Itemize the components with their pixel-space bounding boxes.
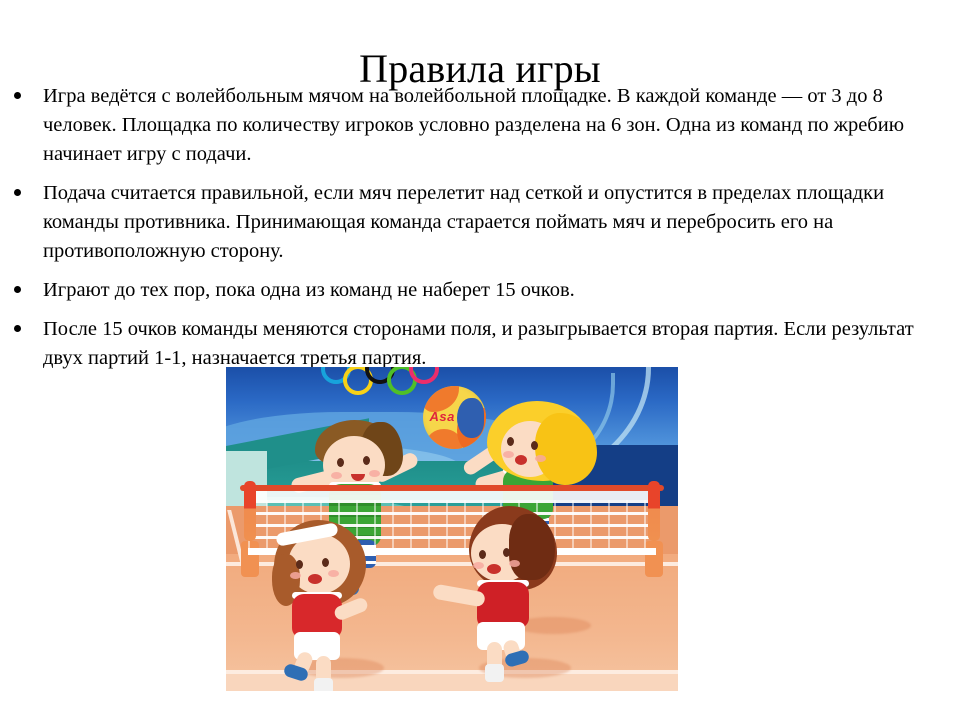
- player-girl-red-top: [262, 510, 412, 690]
- player-cheek: [290, 572, 301, 579]
- ball-panel-blue: [457, 398, 485, 438]
- player-hair-side: [509, 514, 555, 580]
- player-eye: [296, 560, 303, 569]
- volleyball-icon: Asa: [423, 386, 486, 449]
- player-eye: [322, 558, 329, 567]
- bullet-dot-icon: [14, 92, 21, 99]
- list-item: Игра ведётся с волейбольным мячом на вол…: [8, 82, 944, 169]
- player-cheek: [535, 455, 546, 462]
- player-hair-side: [535, 413, 597, 485]
- net-top-cable: [240, 485, 665, 491]
- volleyball-illustration: Asa: [226, 367, 678, 691]
- list-item-text: Играют до тех пор, пока одна из команд н…: [43, 276, 944, 305]
- bullet-dot-icon: [14, 189, 21, 196]
- player-sock: [485, 664, 504, 682]
- player-shirt: [477, 582, 529, 628]
- ball-brand-label: Asa: [430, 409, 455, 424]
- player-eye: [531, 441, 538, 450]
- list-item-text: После 15 очков команды меняются сторонам…: [43, 315, 944, 373]
- player-mouth: [308, 574, 322, 584]
- player-cheek: [503, 451, 514, 458]
- list-item: Подача считается правильной, если мяч пе…: [8, 179, 944, 266]
- ball-panel-orange: [423, 386, 460, 411]
- illustration-canvas: Asa: [226, 367, 678, 691]
- list-item: Играют до тех пор, пока одна из команд н…: [8, 276, 944, 305]
- bullet-dot-icon: [14, 286, 21, 293]
- list-item: После 15 очков команды меняются сторонам…: [8, 315, 944, 373]
- player-eye: [507, 437, 514, 446]
- list-item-text: Игра ведётся с волейбольным мячом на вол…: [43, 82, 944, 169]
- player-sock: [314, 678, 333, 691]
- slide: Правила игры Игра ведётся с волейбольным…: [0, 0, 960, 720]
- net-post-left: [244, 481, 256, 542]
- rules-list: Игра ведётся с волейбольным мячом на вол…: [8, 82, 944, 373]
- player-boy-red-shirt: [447, 500, 597, 685]
- list-item-text: Подача считается правильной, если мяч пе…: [43, 179, 944, 266]
- player-cheek: [328, 570, 339, 577]
- player-mouth: [515, 455, 527, 465]
- net-post-right: [648, 481, 660, 542]
- bullet-dot-icon: [14, 325, 21, 332]
